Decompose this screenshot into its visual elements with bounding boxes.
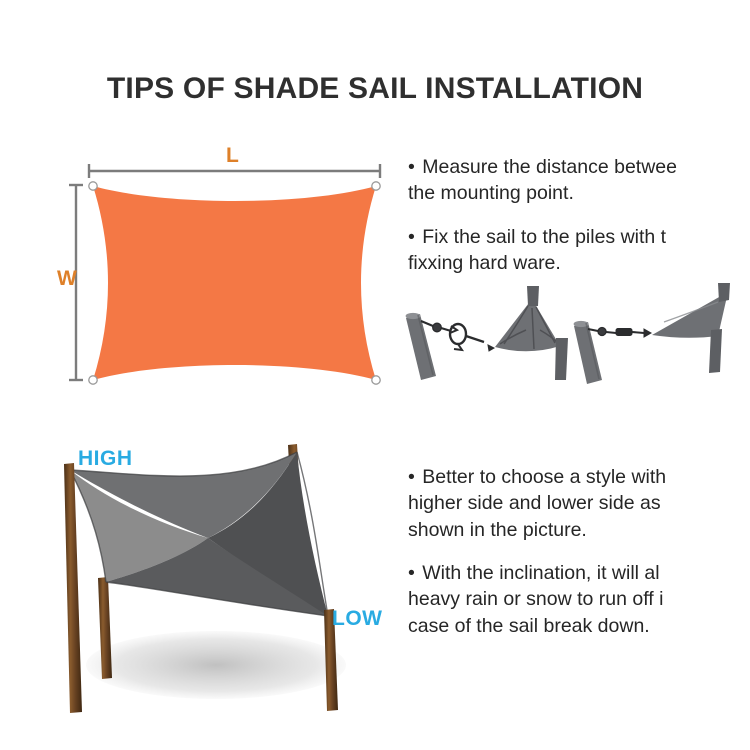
tip-line: the mounting point. — [408, 180, 750, 206]
tip-line-text: higher side and lower side as — [408, 492, 661, 514]
high-side-label: HIGH — [78, 448, 133, 469]
tip-paragraph: • Fix the sail to the piles with t fixxi… — [408, 224, 750, 277]
hardware-svg — [400, 280, 750, 395]
pole-high-left — [64, 463, 82, 713]
tip-line-text: With the inclination, it will al — [422, 562, 659, 584]
cable-hardware-icon — [588, 328, 651, 338]
tip-line: fixxing hard ware. — [408, 250, 750, 276]
tip-line: • Fix the sail to the piles with t — [408, 224, 750, 250]
hardware-illustrations — [400, 280, 750, 395]
ground-shadow — [86, 631, 346, 699]
tip-line-text: Better to choose a style with — [422, 466, 666, 488]
dimension-width-label: W — [57, 268, 77, 289]
sail-corner-wedge — [652, 283, 730, 373]
hardware-illustration-1 — [406, 286, 568, 380]
tip-line: • Measure the distance betwee — [408, 154, 750, 180]
orange-sail-shape — [93, 186, 376, 380]
tip-line: higher side and lower side as — [408, 490, 750, 516]
tip-paragraph: • Better to choose a style with higher s… — [408, 464, 750, 543]
bullet-dot: • — [408, 156, 417, 178]
rectangular-sail-svg — [60, 140, 400, 405]
mounting-pole-icon — [406, 313, 436, 380]
tip-paragraph: • Measure the distance betwee the mounti… — [408, 154, 750, 207]
tip-line-text: heavy rain or snow to run off i — [408, 588, 663, 610]
hypar-sail-diagram: HIGH LOW — [20, 430, 410, 730]
shade-sail-fabric — [70, 452, 328, 616]
hypar-sail-svg — [20, 430, 410, 730]
bullet-dot: • — [408, 226, 417, 248]
tip-line-text: fixxing hard ware. — [408, 252, 561, 274]
turnbuckle-hardware-icon — [421, 321, 494, 351]
bullet-dot: • — [408, 466, 417, 488]
triangular-sail-corner — [495, 286, 568, 380]
tip-line: case of the sail break down. — [408, 613, 750, 639]
page-title: TIPS OF SHADE SAIL INSTALLATION — [0, 72, 750, 106]
bottom-section: HIGH LOW — [0, 430, 750, 730]
tip-line-text: shown in the picture. — [408, 519, 587, 541]
shade-sail-installation-infographic: TIPS OF SHADE SAIL INSTALLATION L W — [0, 0, 750, 750]
dimension-length-label: L — [226, 145, 239, 166]
top-section: L W — [0, 140, 750, 405]
tip-line-text: case of the sail break down. — [408, 615, 650, 637]
rectangular-sail-diagram: L W — [60, 140, 400, 405]
bullet-dot: • — [408, 562, 417, 584]
hardware-illustration-2 — [574, 283, 730, 384]
tip-line: • Better to choose a style with — [408, 464, 750, 490]
tip-line-text: Measure the distance betwee — [422, 156, 677, 178]
top-tips-text: • Measure the distance betwee the mounti… — [408, 154, 750, 276]
tip-line-text: the mounting point. — [408, 182, 574, 204]
bottom-tips-text: • Better to choose a style with higher s… — [408, 464, 750, 639]
tip-line: • With the inclination, it will al — [408, 560, 750, 586]
tip-line-text: Fix the sail to the piles with t — [422, 226, 666, 248]
tip-line: shown in the picture. — [408, 517, 750, 543]
tip-paragraph: • With the inclination, it will al heavy… — [408, 560, 750, 639]
tip-line: heavy rain or snow to run off i — [408, 586, 750, 612]
low-side-label: LOW — [332, 608, 382, 629]
